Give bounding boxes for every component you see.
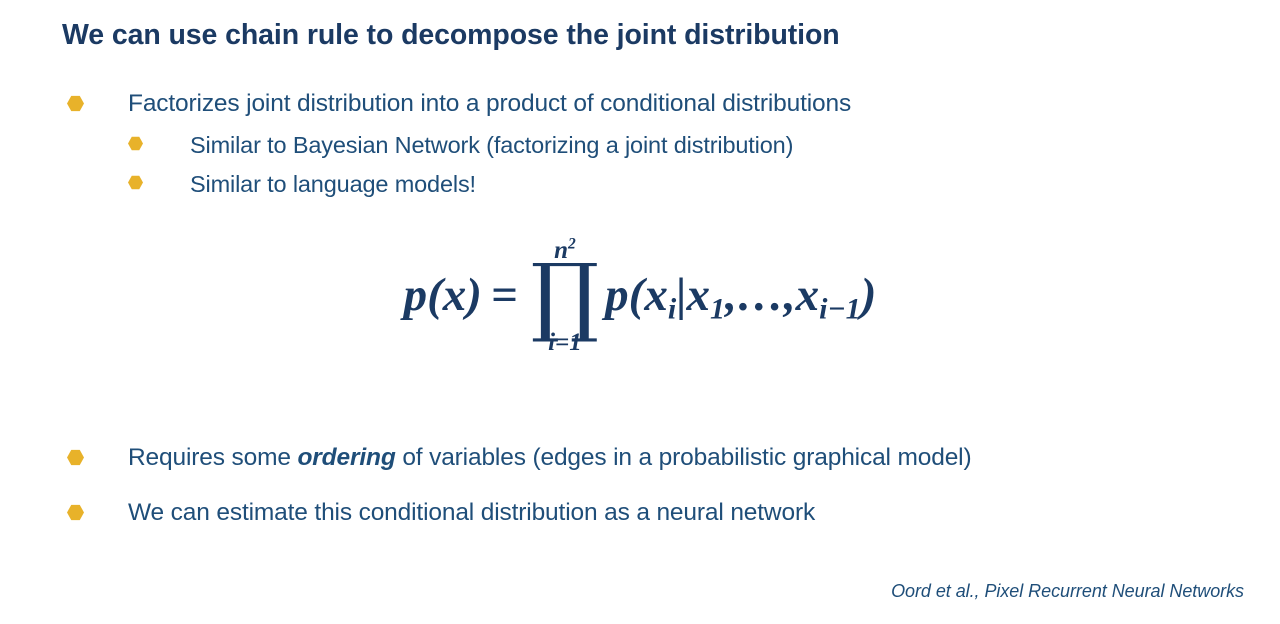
hexagon-bullet-icon (67, 449, 84, 466)
equation-equals-sign: = (491, 272, 518, 319)
equation-conditional-bar: | (676, 269, 686, 321)
equation-comma-1: , (725, 269, 737, 321)
product-operator: n2 ∏ i=1 (531, 238, 599, 356)
list-item: Similar to language models! (0, 166, 1280, 203)
product-symbol-glyph: ∏ (531, 265, 599, 329)
equation-rhs-var3-subscript: i−1 (819, 291, 861, 325)
list-item: We can estimate this conditional distrib… (0, 493, 1280, 532)
equation-lhs-variable: x (443, 269, 467, 321)
equation-lhs-p: p (404, 269, 428, 321)
list-item-label: Requires some ordering of variables (edg… (128, 438, 1150, 477)
citation-text: Oord et al., Pixel Recurrent Neural Netw… (891, 581, 1244, 602)
equation-ellipsis: … (737, 269, 784, 321)
equation-rhs-p: p (605, 269, 629, 321)
equation-comma-2: , (784, 269, 796, 321)
equation-lhs-close-paren: ) (466, 269, 482, 321)
page-title: We can use chain rule to decompose the j… (62, 18, 1222, 52)
list-item-text-after: of variables (edges in a probabilistic g… (396, 444, 972, 471)
hexagon-bullet-icon (128, 175, 143, 190)
slide-canvas: We can use chain rule to decompose the j… (0, 0, 1280, 624)
list-item-text-before: Requires some (128, 444, 297, 471)
chain-rule-equation: p(x)= n2 ∏ i=1 p(xi|x1,…,xi−1) (404, 236, 877, 354)
equation-rhs-var2: x (687, 269, 711, 321)
list-item-label: Similar to Bayesian Network (factorizing… (190, 127, 1150, 164)
equation-lhs: p(x) (404, 272, 482, 319)
equation-rhs-open-paren: ( (629, 269, 645, 321)
list-item-emphasis: ordering (297, 444, 395, 471)
list-item: Requires some ordering of variables (edg… (0, 438, 1280, 477)
bullet-list-bottom: Requires some ordering of variables (edg… (0, 438, 1280, 536)
list-item: Factorizes joint distribution into a pro… (0, 84, 1280, 123)
equation-rhs-var1: x (644, 269, 668, 321)
equation-rhs-var3: x (796, 269, 820, 321)
hexagon-bullet-icon (67, 95, 84, 112)
list-item: Similar to Bayesian Network (factorizing… (0, 127, 1280, 164)
list-item-label: We can estimate this conditional distrib… (128, 493, 1150, 532)
equation-lhs-open-paren: ( (427, 269, 443, 321)
hexagon-bullet-icon (67, 504, 84, 521)
equation-block: p(x)= n2 ∏ i=1 p(xi|x1,…,xi−1) (0, 236, 1280, 354)
bullet-list-top: Factorizes joint distribution into a pro… (0, 84, 1280, 205)
hexagon-bullet-icon (128, 136, 143, 151)
list-item-label: Similar to language models! (190, 166, 1150, 203)
equation-rhs-close-paren: ) (861, 269, 877, 321)
equation-rhs-var1-subscript: i (668, 291, 676, 325)
list-item-label: Factorizes joint distribution into a pro… (128, 84, 1150, 123)
equation-rhs: p(xi|x1,…,xi−1) (605, 272, 876, 319)
equation-rhs-var2-subscript: 1 (710, 291, 725, 325)
